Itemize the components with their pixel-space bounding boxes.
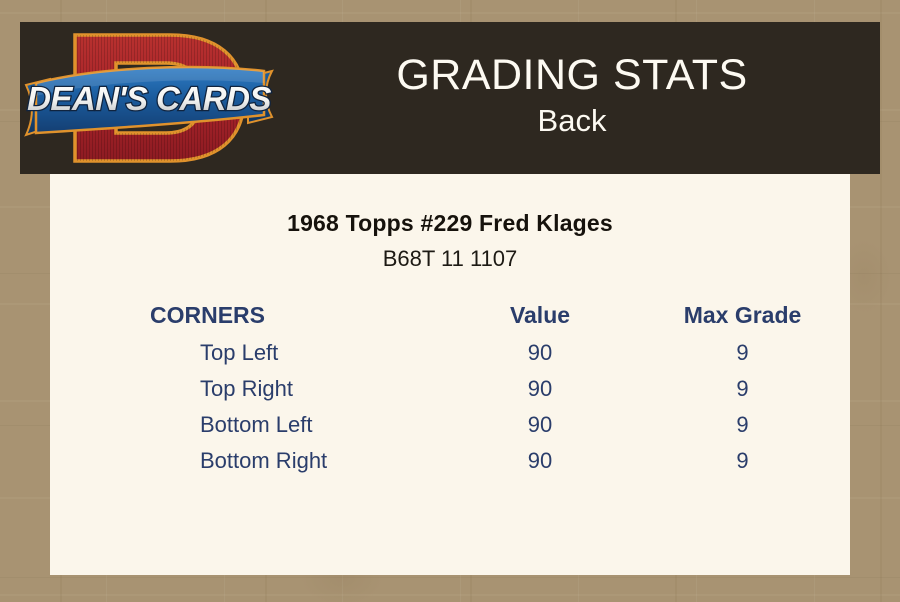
row-max-grade: 9 bbox=[635, 407, 850, 443]
grading-stats-table: CORNERS Value Max Grade Top Left 90 9 To… bbox=[50, 302, 850, 479]
deans-cards-logo[interactable]: DEAN'S CARDS bbox=[20, 23, 278, 173]
header-bar: DEAN'S CARDS GRADING STATS Back bbox=[20, 22, 880, 174]
row-max-grade: 9 bbox=[635, 335, 850, 371]
row-label: Bottom Left bbox=[50, 407, 445, 443]
card-title: 1968 Topps #229 Fred Klages bbox=[50, 210, 850, 237]
logo-svg: DEAN'S CARDS bbox=[20, 23, 278, 173]
row-label: Top Right bbox=[50, 371, 445, 407]
page-subtitle: Back bbox=[278, 102, 866, 141]
row-value: 90 bbox=[445, 335, 635, 371]
table-body: Top Left 90 9 Top Right 90 9 Bottom Left… bbox=[50, 335, 850, 479]
table-row: Top Right 90 9 bbox=[50, 371, 850, 407]
row-value: 90 bbox=[445, 371, 635, 407]
row-max-grade: 9 bbox=[635, 371, 850, 407]
logo-ribbon-text: DEAN'S CARDS bbox=[27, 80, 271, 117]
table-header-row: CORNERS Value Max Grade bbox=[50, 302, 850, 335]
table-row: Bottom Right 90 9 bbox=[50, 443, 850, 479]
header-titles: GRADING STATS Back bbox=[278, 53, 880, 141]
row-max-grade: 9 bbox=[635, 443, 850, 479]
page-title: GRADING STATS bbox=[278, 53, 866, 98]
column-header-value: Value bbox=[445, 302, 635, 335]
row-label: Top Left bbox=[50, 335, 445, 371]
row-value: 90 bbox=[445, 407, 635, 443]
table-row: Bottom Left 90 9 bbox=[50, 407, 850, 443]
row-value: 90 bbox=[445, 443, 635, 479]
row-label: Bottom Right bbox=[50, 443, 445, 479]
table-row: Top Left 90 9 bbox=[50, 335, 850, 371]
content-panel: 1968 Topps #229 Fred Klages B68T 11 1107… bbox=[50, 174, 850, 575]
column-header-max-grade: Max Grade bbox=[635, 302, 850, 335]
column-header-corners: CORNERS bbox=[50, 302, 445, 335]
card-identifier: B68T 11 1107 bbox=[50, 246, 850, 272]
